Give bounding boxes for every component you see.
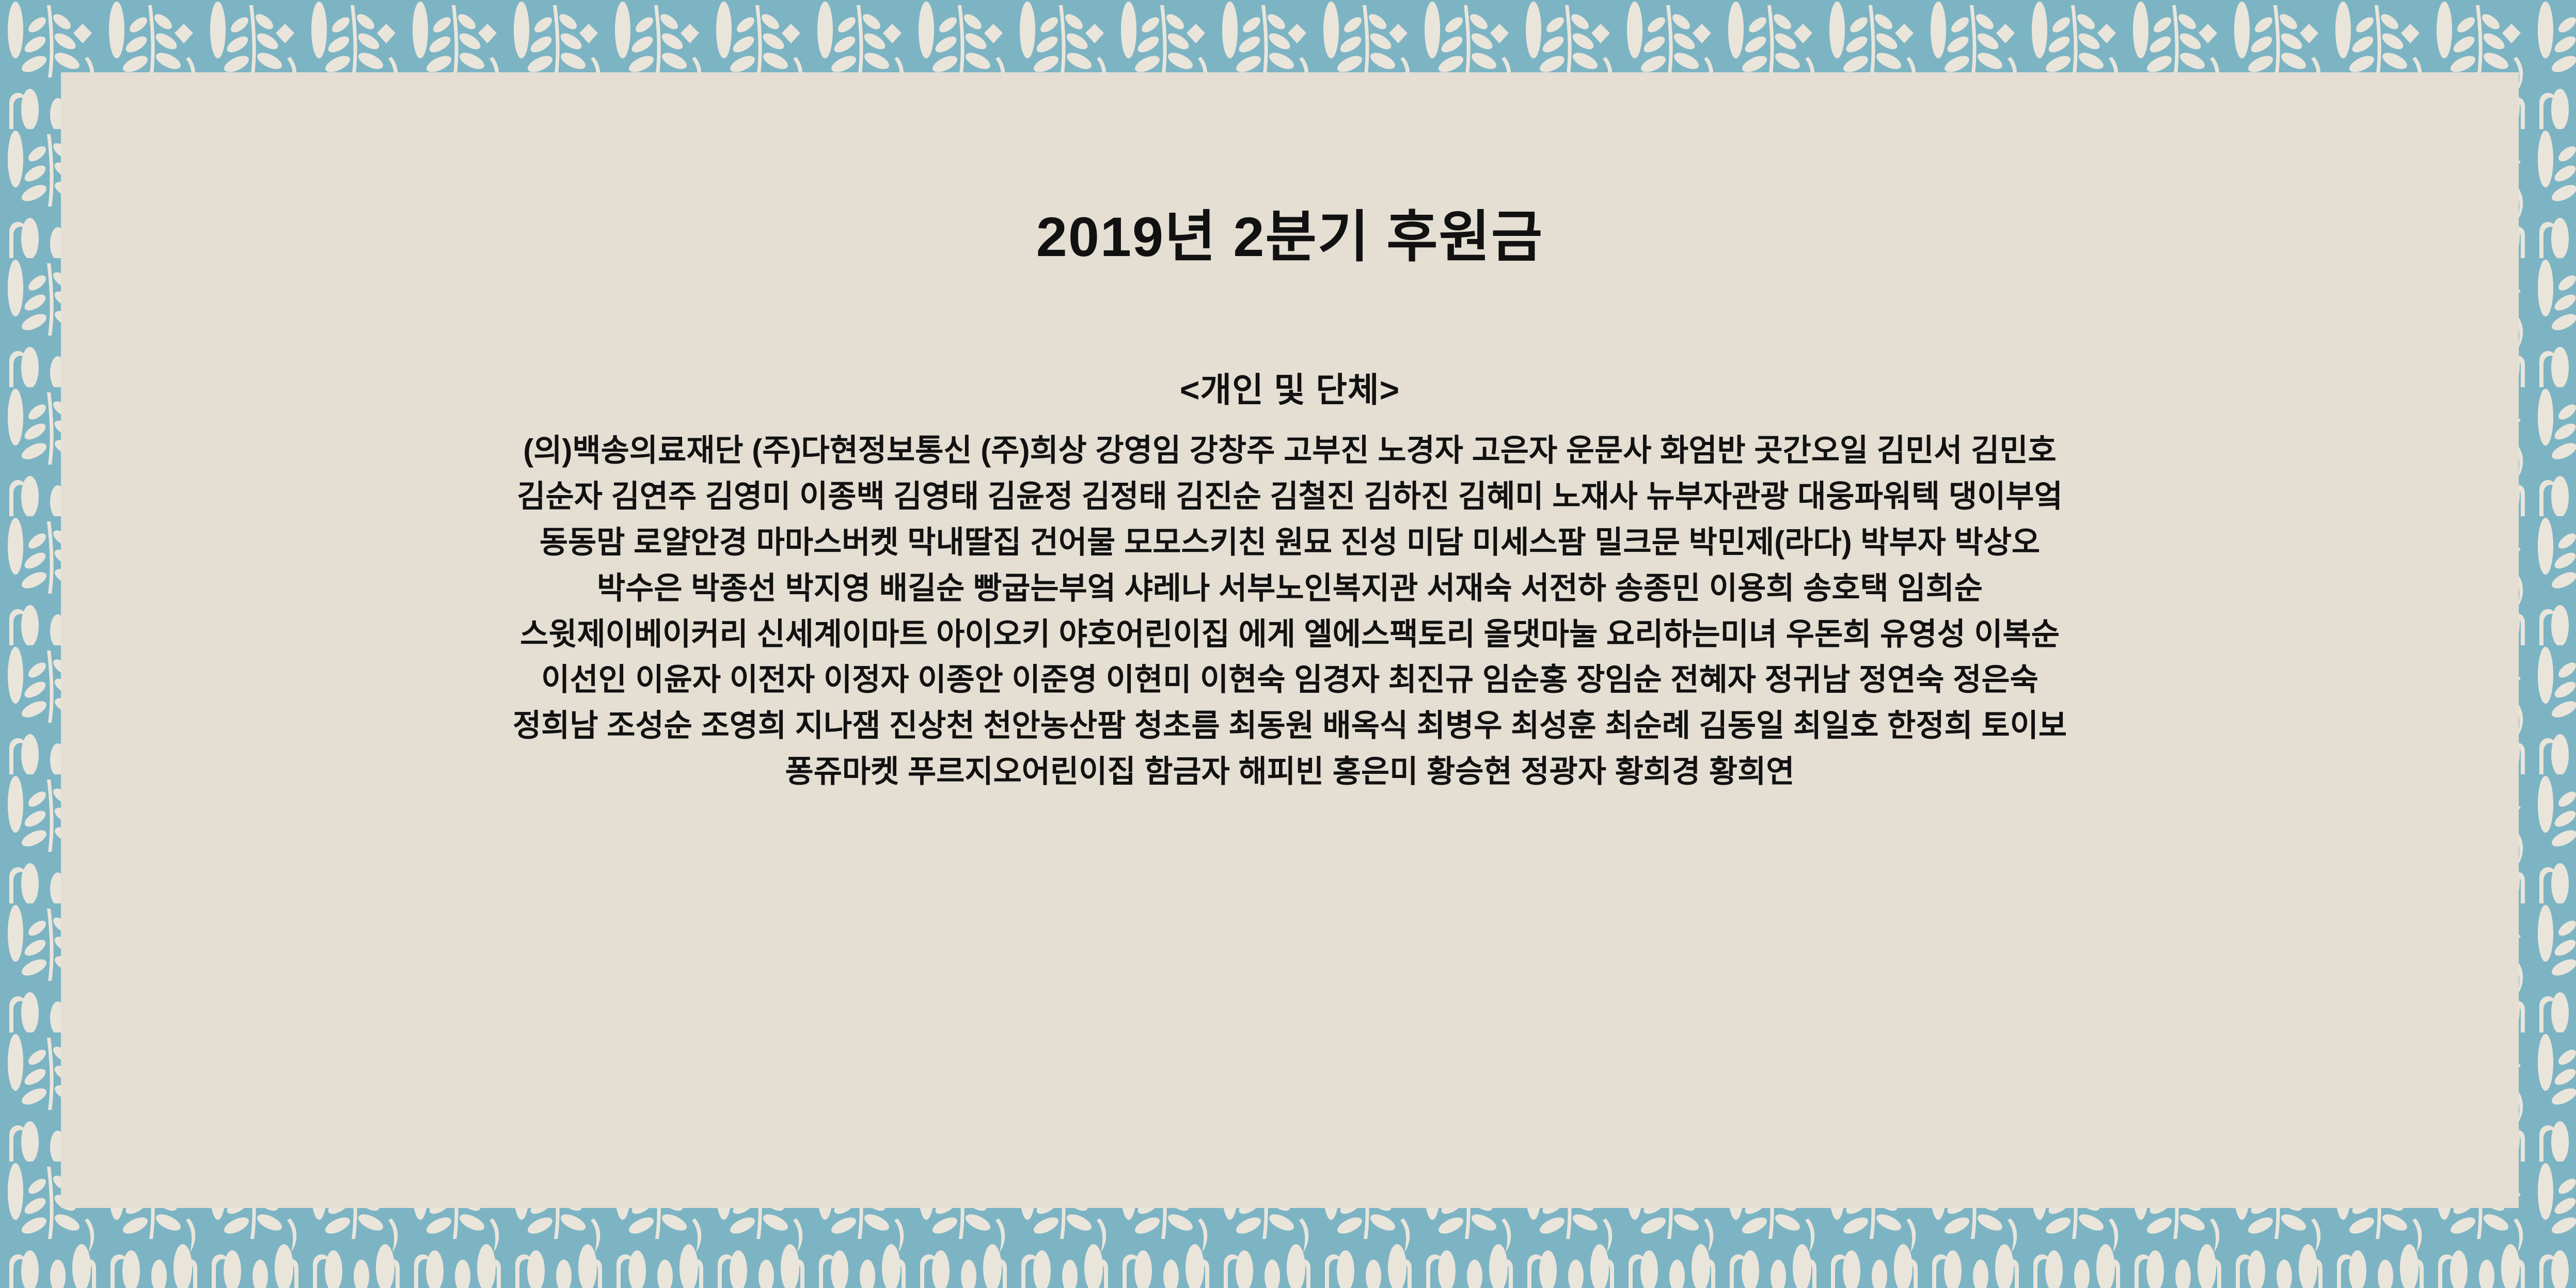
donor-names-line: 김순자 김연주 김영미 이종백 김영태 김윤정 김정태 김진순 김철진 김하진 … bbox=[113, 474, 2467, 520]
donor-names-line: 퐁쥬마켓 푸르지오어린이집 함금자 해피빈 홍은미 황승현 정광자 황희경 황희… bbox=[113, 749, 2467, 795]
donor-names-line: 스윗제이베이커리 신세계이마트 아이오키 야호어린이집 에게 엘에스팩토리 올댓… bbox=[113, 612, 2467, 658]
content-card: 2019년 2분기 후원금 <개인 및 단체> (의)백송의료재단 (주)다현정… bbox=[61, 72, 2519, 1208]
poster-canvas: 2019년 2분기 후원금 <개인 및 단체> (의)백송의료재단 (주)다현정… bbox=[0, 0, 2576, 1288]
donor-names-line: (의)백송의료재단 (주)다현정보통신 (주)희상 강영임 강창주 고부진 노경… bbox=[113, 428, 2467, 474]
donor-names-line: 이선인 이윤자 이전자 이정자 이종안 이준영 이현미 이현숙 임경자 최진규 … bbox=[113, 657, 2467, 703]
donor-names-line: 박수은 박종선 박지영 배길순 빵굽는부엌 샤레나 서부노인복지관 서재숙 서전… bbox=[113, 566, 2467, 612]
page-title: 2019년 2분기 후원금 bbox=[113, 103, 2467, 268]
donor-names-line: 동동맘 로얄안경 마마스버켓 막내딸집 건어물 모모스키친 원묘 진성 미담 미… bbox=[113, 520, 2467, 566]
donor-names-line: 정희남 조성순 조영희 지나잼 진상천 천안농산팜 청초름 최동원 배옥식 최병… bbox=[113, 703, 2467, 749]
section-subtitle: <개인 및 단체> bbox=[113, 268, 2467, 409]
donor-names-list: (의)백송의료재단 (주)다현정보통신 (주)희상 강영임 강창주 고부진 노경… bbox=[113, 408, 2467, 794]
